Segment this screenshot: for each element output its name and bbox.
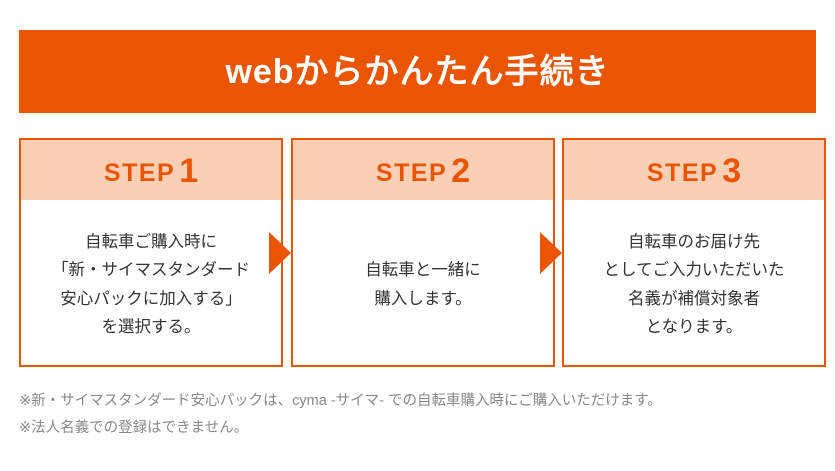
- step-1-label: STEP: [104, 161, 175, 186]
- step-2-label: STEP: [376, 161, 447, 186]
- header-banner: webからかんたん手続き: [19, 30, 816, 113]
- step-3-header: STEP 3: [564, 140, 824, 200]
- page-title: webからかんたん手続き: [225, 55, 609, 89]
- step-1-description: 自転車ご購入時に 「新・サイマスタンダード 安心パックに加入する」 を選択する。: [52, 228, 250, 342]
- step-3-number: 3: [722, 154, 741, 188]
- step-card-3: STEP 3 自転車のお届け先 としてご入力いただいた 名義が補償対象者 となり…: [562, 138, 826, 367]
- step-2-body: 自転車と一緒に 購入します。: [293, 200, 553, 367]
- footnote-1: ※新・サイマスタンダード安心パックは、cyma -サイマ- での自転車購入時にご…: [19, 388, 819, 415]
- step-3-label: STEP: [647, 161, 718, 186]
- step-1-body: 自転車ご購入時に 「新・サイマスタンダード 安心パックに加入する」 を選択する。: [21, 200, 281, 367]
- step-3-description: 自転車のお届け先 としてご入力いただいた 名義が補償対象者 となります。: [603, 228, 784, 342]
- steps-container: STEP 1 自転車ご購入時に 「新・サイマスタンダード 安心パックに加入する」…: [19, 138, 816, 369]
- step-2-description: 自転車と一緒に 購入します。: [365, 256, 481, 313]
- footnotes: ※新・サイマスタンダード安心パックは、cyma -サイマ- での自転車購入時にご…: [19, 388, 819, 442]
- step-1-number: 1: [179, 154, 198, 188]
- footnote-2: ※法人名義での登録はできません。: [19, 415, 819, 442]
- step-2-header: STEP 2: [293, 140, 553, 200]
- step-card-2: STEP 2 自転車と一緒に 購入します。: [291, 138, 555, 367]
- step-2-number: 2: [451, 154, 470, 188]
- step-card-1: STEP 1 自転車ご購入時に 「新・サイマスタンダード 安心パックに加入する」…: [19, 138, 283, 367]
- step-1-header: STEP 1: [21, 140, 281, 200]
- step-guide-page: webからかんたん手続き STEP 1 自転車ご購入時に 「新・サイマスタンダー…: [0, 0, 835, 471]
- step-3-body: 自転車のお届け先 としてご入力いただいた 名義が補償対象者 となります。: [564, 200, 824, 367]
